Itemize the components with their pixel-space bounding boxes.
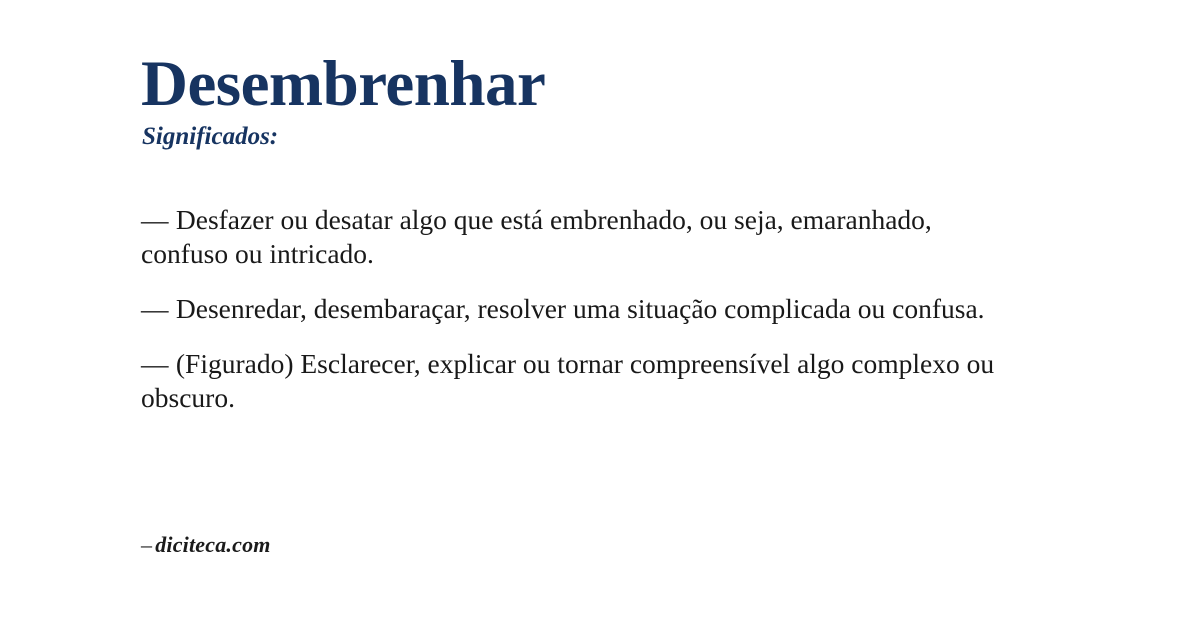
em-dash-icon: — [141, 293, 169, 324]
en-dash-icon: – [141, 532, 155, 557]
list-item: — Desenredar, desembaraçar, resolver uma… [141, 292, 1011, 326]
source-attribution: –diciteca.com [141, 532, 271, 558]
list-item: — Desfazer ou desatar algo que está embr… [141, 203, 1011, 271]
em-dash-icon: — [141, 348, 169, 379]
entry-header: Desembrenhar Significados: [141, 0, 1060, 151]
em-dash-icon: — [141, 204, 169, 235]
definition-text: (Figurado) Esclarecer, explicar ou torna… [141, 348, 994, 413]
list-item: — (Figurado) Esclarecer, explicar ou tor… [141, 347, 1011, 415]
meanings-label: Significados: [142, 123, 1060, 151]
page-title: Desembrenhar [141, 52, 1060, 117]
definition-text: Desfazer ou desatar algo que está embren… [141, 204, 932, 269]
definition-list: — Desfazer ou desatar algo que está embr… [141, 203, 1011, 415]
dictionary-entry-card: Desembrenhar Significados: — Desfazer ou… [0, 0, 1200, 628]
source-name: diciteca.com [155, 532, 270, 557]
definition-text: Desenredar, desembaraçar, resolver uma s… [176, 293, 985, 324]
